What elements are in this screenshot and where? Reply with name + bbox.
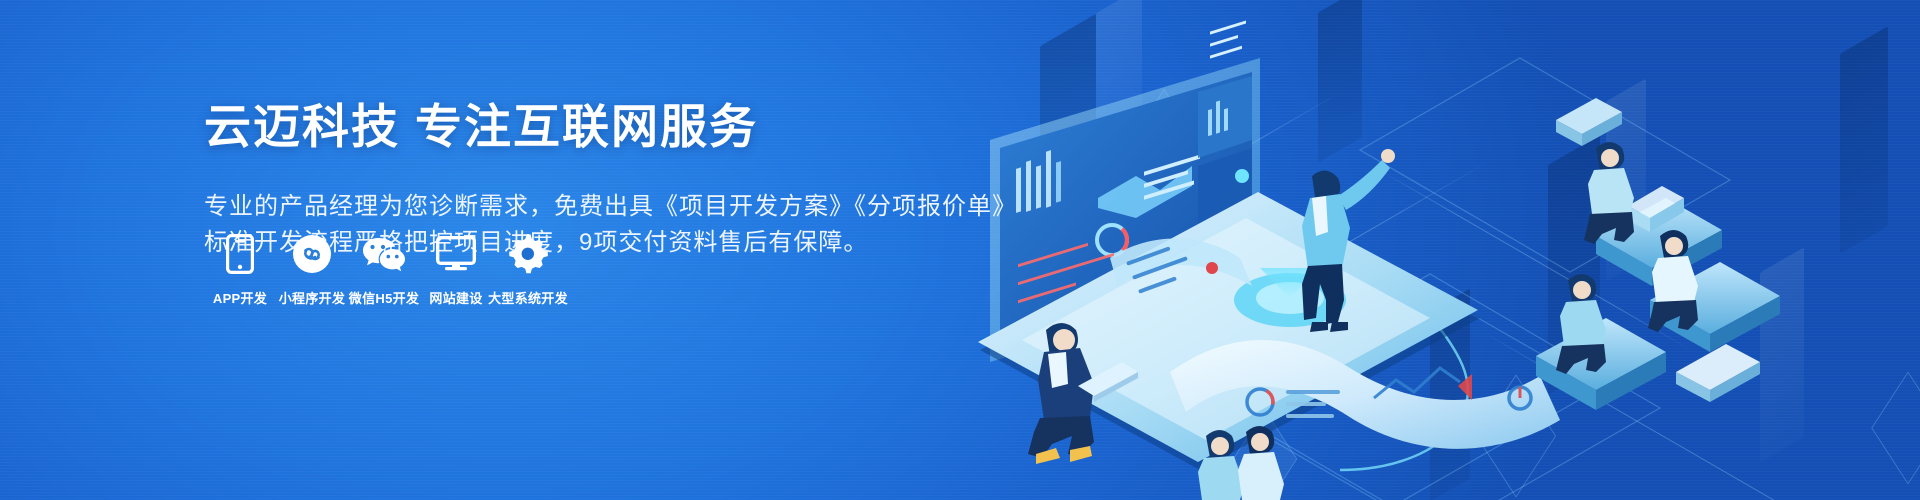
iso-diamond [1233,409,1298,500]
iso-bar [1606,78,1646,281]
figure-seated [1028,323,1138,464]
iso-diamond [1476,374,1556,497]
iso-grid-line [1040,160,1491,421]
banner-headline: 云迈科技 专注互联网服务 [204,97,1104,157]
wechat-icon [362,232,406,276]
mobile-phone-icon [226,232,254,276]
service-item-mini-program[interactable]: 小程序开发 [276,232,348,308]
isometric-illustration [960,0,1920,500]
iso-diamond [1871,371,1920,484]
iso-grid-line [1480,330,1862,500]
service-item-large-system[interactable]: 大型系统开发 [492,232,564,308]
service-label: APP开发 [213,290,267,308]
figure-right-bottom [1556,274,1606,374]
service-item-wechat-h5[interactable]: 微信H5开发 [348,232,420,308]
iso-grid-line [1380,170,1692,351]
iso-bar [1318,0,1362,163]
figure-right-upper [1584,142,1634,244]
service-item-app[interactable]: APP开发 [204,232,276,308]
iso-bar [1136,238,1176,431]
gear-icon [508,232,548,276]
iso-diamond [1123,117,1221,268]
mini-program-icon [292,232,332,276]
service-item-website[interactable]: 网站建设 [420,232,492,308]
figure-standing [1302,149,1395,332]
service-label: 小程序开发 [279,290,346,308]
service-label: 大型系统开发 [488,290,568,308]
figure-right-lower [1648,230,1698,332]
service-label: 微信H5开发 [349,290,419,308]
iso-bar [1760,247,1804,462]
promo-banner: 云迈科技 专注互联网服务 专业的产品经理为您诊断需求，免费出具《项目开发方案》《… [0,0,1920,500]
iso-diamond [1115,89,1213,240]
subtitle-line-1: 专业的产品经理为您诊断需求，免费出具《项目开发方案》《分项报价单》 [204,189,1104,225]
service-list: APP开发 小程序开发 [204,232,564,308]
service-label: 网站建设 [429,290,482,308]
iso-bar [1840,26,1888,254]
iso-bar [1548,135,1600,395]
figure-pair [1198,426,1284,500]
monitor-icon [436,232,476,276]
iso-bar [1430,288,1470,500]
iso-diamond [1131,145,1229,296]
